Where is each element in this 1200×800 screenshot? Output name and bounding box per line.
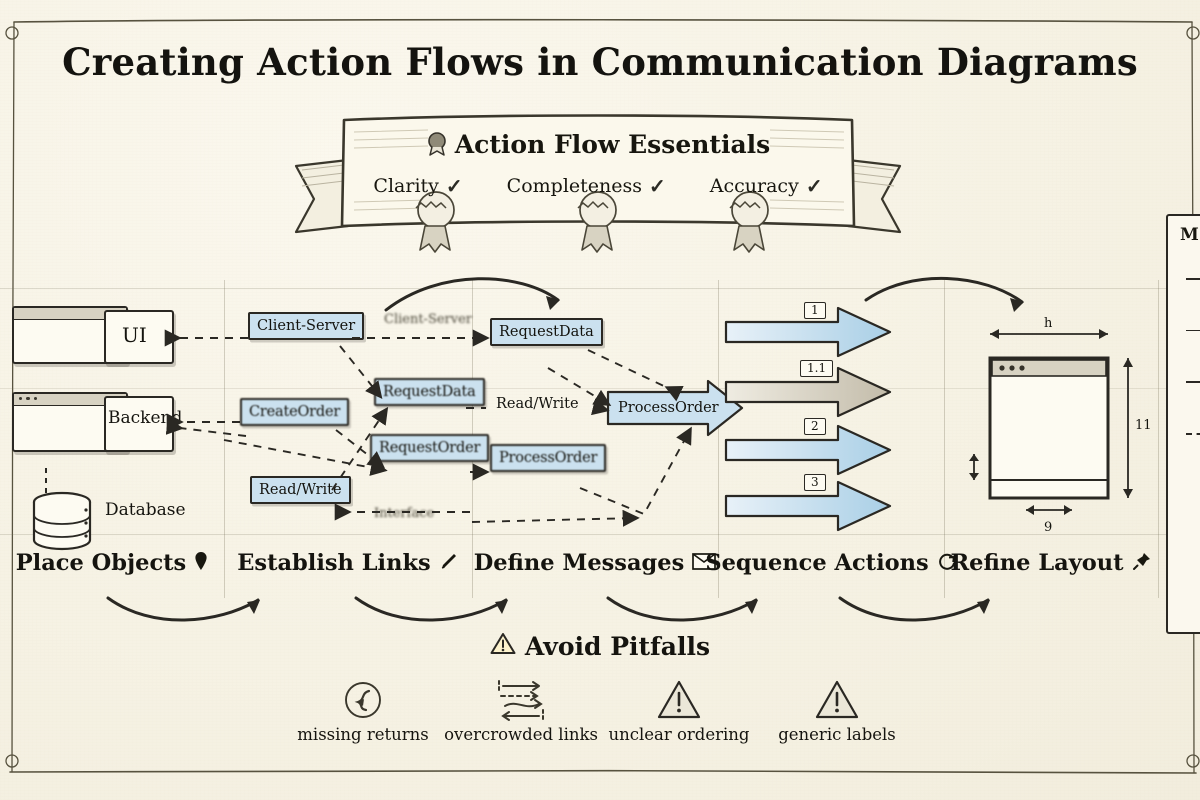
- reference-item: A (oper: [1180, 330, 1200, 365]
- reference-item-note: (loo: [1180, 456, 1200, 469]
- sequence-number-1: 1: [804, 302, 826, 319]
- reference-panel-subtitle: T: [1180, 246, 1200, 262]
- warning-triangle-icon: [758, 675, 916, 725]
- layout-window-with-dimensions: [944, 304, 1158, 554]
- step-column-sequence-actions: 1 1.1 2 3 Sequence Actions: [718, 288, 944, 598]
- dimension-label-width-top: h: [1044, 316, 1052, 331]
- banner-pill-completeness: Completeness ✓: [507, 174, 666, 198]
- pitfall-item-generic-labels: generic labels: [758, 675, 916, 744]
- warning-triangle-icon: [600, 675, 758, 725]
- sequence-number-3: 3: [804, 474, 826, 491]
- edge-label-interface: Interface: [374, 506, 434, 521]
- link-box-create-order[interactable]: CreateOrder: [240, 398, 349, 426]
- sequence-arrows: [718, 300, 944, 550]
- pitfall-label: missing returns: [284, 725, 442, 744]
- banner-pill-label: Accuracy: [710, 175, 799, 197]
- step-column-define-messages: RequestData ProcessOrder Read/Write Proc…: [472, 288, 718, 598]
- reference-item-note: (da: [1180, 404, 1200, 417]
- pitfall-label: overcrowded links: [442, 725, 600, 744]
- pitfall-item-unclear-ordering: unclear ordering: [600, 675, 758, 744]
- message-box-process-order[interactable]: ProcessOrder: [490, 444, 606, 472]
- reference-item-name: R: [1180, 438, 1200, 456]
- pitfalls-list: missing returns overc: [0, 675, 1200, 744]
- reference-panel-title: M: [1180, 226, 1200, 245]
- sequence-number-1-1: 1.1: [800, 360, 833, 377]
- check-icon: ✓: [649, 174, 666, 198]
- step-column-refine-layout: h 11 9 Refine Layout: [944, 288, 1158, 598]
- object-label-ui: UI: [122, 323, 147, 347]
- pitfall-label: unclear ordering: [600, 725, 758, 744]
- pitfalls-heading: Avoid Pitfalls: [0, 632, 1200, 661]
- banner-heading-text: Action Flow Essentials: [455, 130, 770, 159]
- check-icon: ✓: [446, 174, 463, 198]
- banner-pill-accuracy: Accuracy ✓: [710, 174, 823, 198]
- pitfalls-section: Avoid Pitfalls missing returns: [0, 632, 1200, 744]
- step-label-define-messages: Define Messages: [472, 550, 718, 576]
- legend-line-solid: [1186, 278, 1200, 280]
- reference-item-name: S: [1180, 283, 1200, 301]
- reference-item: R (da: [1180, 381, 1200, 417]
- step-label-sequence-actions: Sequence Actions: [718, 550, 944, 576]
- banner-pill-label: Completeness: [507, 175, 642, 197]
- link-box-client-server[interactable]: Client-Server: [248, 312, 364, 340]
- pushpin-icon: [1132, 551, 1152, 575]
- edge-label-read-write: Read/Write: [496, 396, 579, 412]
- legend-line-double: [1186, 330, 1200, 331]
- poster-canvas: Creating Action Flows in Communication D…: [0, 0, 1200, 800]
- banner-pills: Clarity ✓ Completeness ✓ Accuracy ✓: [288, 174, 908, 198]
- link-box-read-write[interactable]: Read/Write: [250, 476, 351, 504]
- object-label-backend: Backend: [108, 408, 182, 428]
- reference-item-note: (oper: [1180, 352, 1200, 365]
- step-label-text: Establish Links: [237, 550, 430, 576]
- warning-triangle-icon: [490, 632, 516, 661]
- link-box-request-data[interactable]: RequestData: [374, 378, 485, 406]
- window-dots: [19, 397, 37, 400]
- step-label-text: Define Messages: [474, 550, 685, 576]
- object-label-database: Database: [105, 500, 186, 520]
- check-icon: ✓: [806, 174, 823, 198]
- pitfall-item-overcrowded-links: overcrowded links: [442, 675, 600, 744]
- steps-strip: UI Backend Database: [0, 288, 1200, 598]
- banner-pill-label: Clarity: [373, 175, 438, 197]
- message-box-request-data[interactable]: RequestData: [490, 318, 603, 346]
- page-title: Creating Action Flows in Communication D…: [0, 40, 1200, 84]
- dimension-label-width-bottom: 9: [1044, 520, 1052, 535]
- tangled-arrows-icon: [442, 675, 600, 725]
- banner: Action Flow Essentials Clarity ✓ Complet…: [288, 108, 908, 253]
- legend-line-solid: [1186, 381, 1200, 383]
- sequence-number-2: 2: [804, 418, 826, 435]
- step-column-establish-links: Client-Server CreateOrder RequestData Re…: [224, 288, 472, 598]
- reference-item: R (loo: [1180, 433, 1200, 469]
- step-column-place-objects: UI Backend Database: [0, 288, 224, 598]
- return-arrow-circle-icon: [284, 675, 442, 725]
- column-divider: [1158, 280, 1159, 598]
- message-arrow-label: ProcessOrder: [618, 400, 719, 416]
- rosette-icon: [426, 132, 448, 162]
- step-label-place-objects: Place Objects: [0, 550, 224, 576]
- pitfall-label: generic labels: [758, 725, 916, 744]
- pitfall-item-missing-returns: missing returns: [284, 675, 442, 744]
- reference-item-note: (se: [1180, 301, 1200, 314]
- reference-panel: M T S (se A (oper R (da R (loo: [1166, 214, 1200, 634]
- pen-icon: [439, 551, 459, 575]
- reference-item: S (se: [1180, 278, 1200, 314]
- reference-item-name: A: [1180, 334, 1200, 352]
- banner-pill-clarity: Clarity ✓: [373, 174, 462, 198]
- legend-line-dashed: [1186, 433, 1200, 435]
- edge-label-client-server: Client-Server: [384, 312, 472, 327]
- dimension-label-height-right: 11: [1135, 418, 1152, 433]
- step-label-text: Refine Layout: [950, 550, 1123, 576]
- pitfalls-heading-text: Avoid Pitfalls: [525, 632, 710, 661]
- banner-heading: Action Flow Essentials: [288, 130, 908, 162]
- map-pin-icon: [194, 551, 208, 575]
- step-label-text: Sequence Actions: [705, 550, 928, 576]
- step-label-establish-links: Establish Links: [224, 550, 472, 576]
- reference-item-name: R: [1180, 386, 1200, 404]
- step-label-text: Place Objects: [16, 550, 186, 576]
- step-label-refine-layout: Refine Layout: [944, 550, 1158, 576]
